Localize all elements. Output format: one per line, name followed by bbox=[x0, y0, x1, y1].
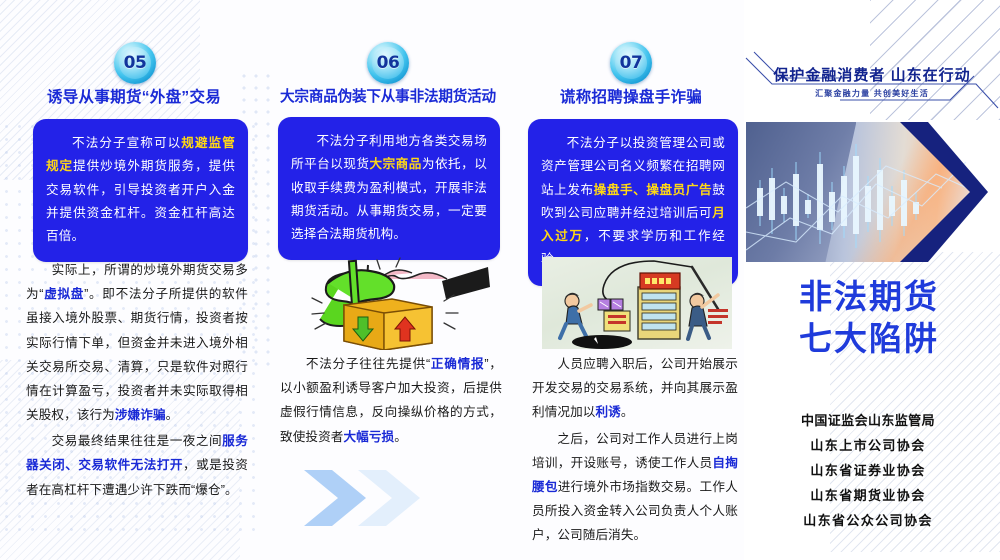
section-number-badge-06: 06 bbox=[367, 42, 409, 84]
section-number-label: 05 bbox=[124, 53, 147, 73]
organization-item: 山东上市公司协会 bbox=[744, 433, 992, 458]
section-body-05: 实际上，所谓的炒境外期货交易多为“虚拟盘”。即不法分子所提供的软件虽接入境外股票… bbox=[26, 258, 248, 504]
section-column-06: 06 大宗商品伪装下从事非法期货活动 不法分子利用地方各类交易场所平台以现货大宗… bbox=[264, 0, 512, 560]
section-body-06: 不法分子往往先提供“正确情报”，以小额盈利诱导客户加大投资，后提供虚假行情信息，… bbox=[280, 352, 502, 451]
body-paragraph: 不法分子往往先提供“正确情报”，以小额盈利诱导客户加大投资，后提供虚假行情信息，… bbox=[280, 352, 502, 449]
section-number-label: 06 bbox=[377, 53, 400, 73]
organization-list: 中国证监会山东监管局 山东上市公司协会 山东省证券业协会 山东省期货业协会 山东… bbox=[744, 408, 992, 533]
body-paragraph: 交易最终结果往往是一夜之间服务器关闭、交易软件无法打开，或是投资者在高杠杆下遭遇… bbox=[26, 429, 248, 502]
fishing-lure-trap-illustration bbox=[542, 257, 732, 349]
body-paragraph: 之后，公司对工作人员进行上岗培训，开设账号，诱使工作人员自掏腰包进行境外市场指数… bbox=[532, 427, 738, 548]
section-title-05: 诱导从事期货“外盘”交易 bbox=[8, 85, 260, 107]
organization-item: 中国证监会山东监管局 bbox=[744, 408, 992, 433]
decorative-double-chevron bbox=[302, 468, 452, 528]
section-column-07: 07 谎称招聘操盘手诈骗 不法分子以投资管理公司或资产管理公司名义频繁在招聘网站… bbox=[518, 0, 744, 560]
organization-item: 山东省公众公司协会 bbox=[744, 508, 992, 533]
section-title-06: 大宗商品伪装下从事非法期货活动 bbox=[264, 85, 512, 106]
poster-main-title: 非法期货 七大陷阱 bbox=[744, 276, 994, 360]
section-number-badge-07: 07 bbox=[610, 42, 652, 84]
campaign-subtitle: 汇聚金融力量 共创美好生活 bbox=[744, 88, 1000, 99]
hand-dollar-box-illustration bbox=[292, 255, 492, 350]
section-title-07: 谎称招聘操盘手诈骗 bbox=[518, 85, 744, 107]
navy-chevron-accent bbox=[894, 120, 990, 266]
organization-item: 山东省期货业协会 bbox=[744, 483, 992, 508]
section-number-label: 07 bbox=[620, 53, 643, 73]
organization-item: 山东省证券业协会 bbox=[744, 458, 992, 483]
poster-canvas: 05 诱导从事期货“外盘”交易 不法分子宣称可以规避监管规定提供炒境外期货服务，… bbox=[0, 0, 1000, 560]
section-column-05: 05 诱导从事期货“外盘”交易 不法分子宣称可以规避监管规定提供炒境外期货服务，… bbox=[8, 0, 260, 560]
body-paragraph: 实际上，所谓的炒境外期货交易多为“虚拟盘”。即不法分子所提供的软件虽接入境外股票… bbox=[26, 258, 248, 427]
section-number-badge-05: 05 bbox=[114, 42, 156, 84]
main-title-line-1: 非法期货 bbox=[744, 276, 994, 318]
section-callout-box-06: 不法分子利用地方各类交易场所平台以现货大宗商品为依托，以收取手续费为盈利模式，开… bbox=[278, 117, 500, 260]
body-paragraph: 人员应聘入职后，公司开始展示开发交易的交易系统，并向其展示盈利情况加以利诱。 bbox=[532, 352, 738, 425]
campaign-title: 保护金融消费者 山东在行动 bbox=[744, 64, 1000, 85]
campaign-header: 保护金融消费者 山东在行动 汇聚金融力量 共创美好生活 bbox=[744, 50, 1000, 112]
section-callout-box-05: 不法分子宣称可以规避监管规定提供炒境外期货服务，提供交易软件，引导投资者开户入金… bbox=[33, 119, 248, 262]
section-body-07: 人员应聘入职后，公司开始展示开发交易的交易系统，并向其展示盈利情况加以利诱。之后… bbox=[532, 352, 738, 549]
right-branding-panel: 保护金融消费者 山东在行动 汇聚金融力量 共创美好生活 bbox=[744, 0, 1000, 560]
main-title-line-2: 七大陷阱 bbox=[744, 318, 994, 360]
